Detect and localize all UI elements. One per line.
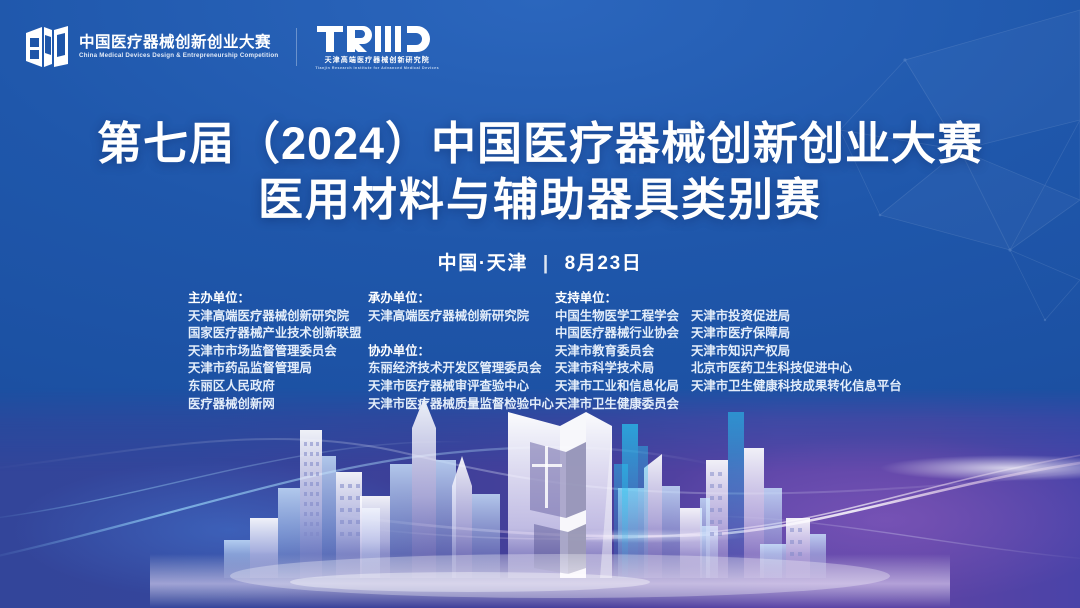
poster-header: 中国医疗器械创新创业大赛 China Medical Devices Desig…	[24, 24, 439, 71]
title-block: 第七届（2024）中国医疗器械创新创业大赛 医用材料与辅助器具类别赛 中国·天津…	[0, 118, 1080, 275]
support-heading: 支持单位：	[555, 290, 691, 308]
support-item: 天津市卫生健康委员会	[555, 396, 691, 414]
host-item: 天津市市场监督管理委员会	[188, 343, 368, 361]
page-subtitle: 医用材料与辅助器具类别赛	[0, 174, 1080, 226]
column-spacer	[368, 325, 555, 343]
support-item: 天津市科学技术局	[555, 360, 691, 378]
organizers-section: 主办单位： 天津高端医疗器械创新研究院 国家医疗器械产业技术创新联盟 天津市市场…	[188, 290, 902, 413]
triid-logo: 天津高端医疗器械创新研究院 Tianjin Research Institute…	[315, 24, 439, 71]
host-item: 天津高端医疗器械创新研究院	[188, 308, 368, 326]
host-item: 东丽区人民政府	[188, 378, 368, 396]
support-item: 天津市教育委员会	[555, 343, 691, 361]
organizers-column-host: 主办单位： 天津高端医疗器械创新研究院 国家医疗器械产业技术创新联盟 天津市市场…	[188, 290, 368, 413]
event-date-line: 中国·天津 | 8月23日	[0, 248, 1080, 275]
organizer-heading: 承办单位：	[368, 290, 555, 308]
open-door-icon	[24, 25, 70, 69]
coorganizer-heading: 协办单位：	[368, 343, 555, 361]
support-item: 天津市工业和信息化局	[555, 378, 691, 396]
host-item: 天津市药品监督管理局	[188, 360, 368, 378]
support-item: 天津市医疗保障局	[691, 325, 902, 343]
coorganizer-item: 东丽经济技术开发区管理委员会	[368, 360, 555, 378]
host-heading: 主办单位：	[188, 290, 368, 308]
organizers-column-organizer: 承办单位： 天津高端医疗器械创新研究院 协办单位： 东丽经济技术开发区管理委员会…	[368, 290, 555, 413]
competition-logo: 中国医疗器械创新创业大赛 China Medical Devices Desig…	[24, 25, 278, 69]
page-title: 第七届（2024）中国医疗器械创新创业大赛	[0, 118, 1080, 170]
support-item: 北京市医药卫生科技促进中心	[691, 360, 902, 378]
competition-logo-en: China Medical Devices Design & Entrepren…	[79, 53, 278, 60]
date-separator: |	[543, 253, 550, 274]
support-item: 中国医疗器械行业协会	[555, 325, 691, 343]
triid-logo-cn: 天津高端医疗器械创新研究院	[325, 57, 430, 64]
event-location: 中国·天津	[438, 253, 528, 274]
logo-divider	[296, 28, 297, 66]
host-item: 国家医疗器械产业技术创新联盟	[188, 325, 368, 343]
organizer-item: 天津高端医疗器械创新研究院	[368, 308, 555, 326]
organizers-column-support-a: 支持单位： 中国生物医学工程学会 中国医疗器械行业协会 天津市教育委员会 天津市…	[555, 290, 691, 413]
support-item: 天津市知识产权局	[691, 343, 902, 361]
support-item: 天津市投资促进局	[691, 308, 902, 326]
host-item: 医疗器械创新网	[188, 396, 368, 414]
triid-logo-en: Tianjin Research Institute for Advanced …	[315, 67, 439, 71]
coorganizer-item: 天津市医疗器械质量监督检验中心	[368, 396, 555, 414]
support-item: 天津市卫生健康科技成果转化信息平台	[691, 378, 902, 396]
competition-logo-cn: 中国医疗器械创新创业大赛	[79, 35, 278, 51]
event-date: 8月23日	[565, 253, 643, 274]
organizers-column-support-b: 天津市投资促进局 天津市医疗保障局 天津市知识产权局 北京市医药卫生科技促进中心…	[691, 290, 902, 396]
coorganizer-item: 天津市医疗器械审评查验中心	[368, 378, 555, 396]
event-poster: 中国医疗器械创新创业大赛 China Medical Devices Desig…	[0, 0, 1080, 608]
triid-wordmark-icon	[317, 24, 437, 54]
support-item: 中国生物医学工程学会	[555, 308, 691, 326]
